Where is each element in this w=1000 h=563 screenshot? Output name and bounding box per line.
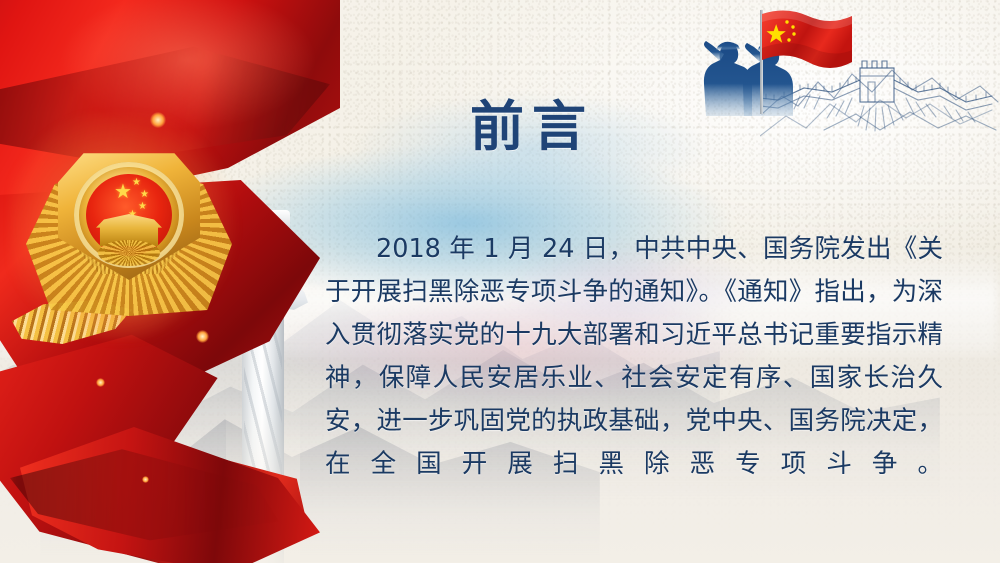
emblem-cogwheel: [98, 240, 160, 266]
preface-slide: ★ ★ ★ ★ ★ 前言 2018 年 1 月 24 日，中共中央、国务院发出《…: [0, 0, 1000, 563]
light-spark: [96, 378, 105, 387]
preface-body-text: 2018 年 1 月 24 日，中共中央、国务院发出《关于开展扫黑除恶专项斗争的…: [325, 228, 943, 529]
national-emblem-of-china: ★ ★ ★ ★ ★: [36, 140, 222, 320]
emblem-star-small: ★: [132, 178, 141, 188]
light-spark: [142, 476, 149, 483]
emblem-star-large: ★: [114, 182, 132, 202]
page-title: 前言: [470, 82, 594, 161]
emblem-star-small: ★: [138, 202, 147, 212]
emblem-star-small: ★: [140, 190, 149, 200]
flag-and-soldiers-emblem: [648, 4, 868, 124]
